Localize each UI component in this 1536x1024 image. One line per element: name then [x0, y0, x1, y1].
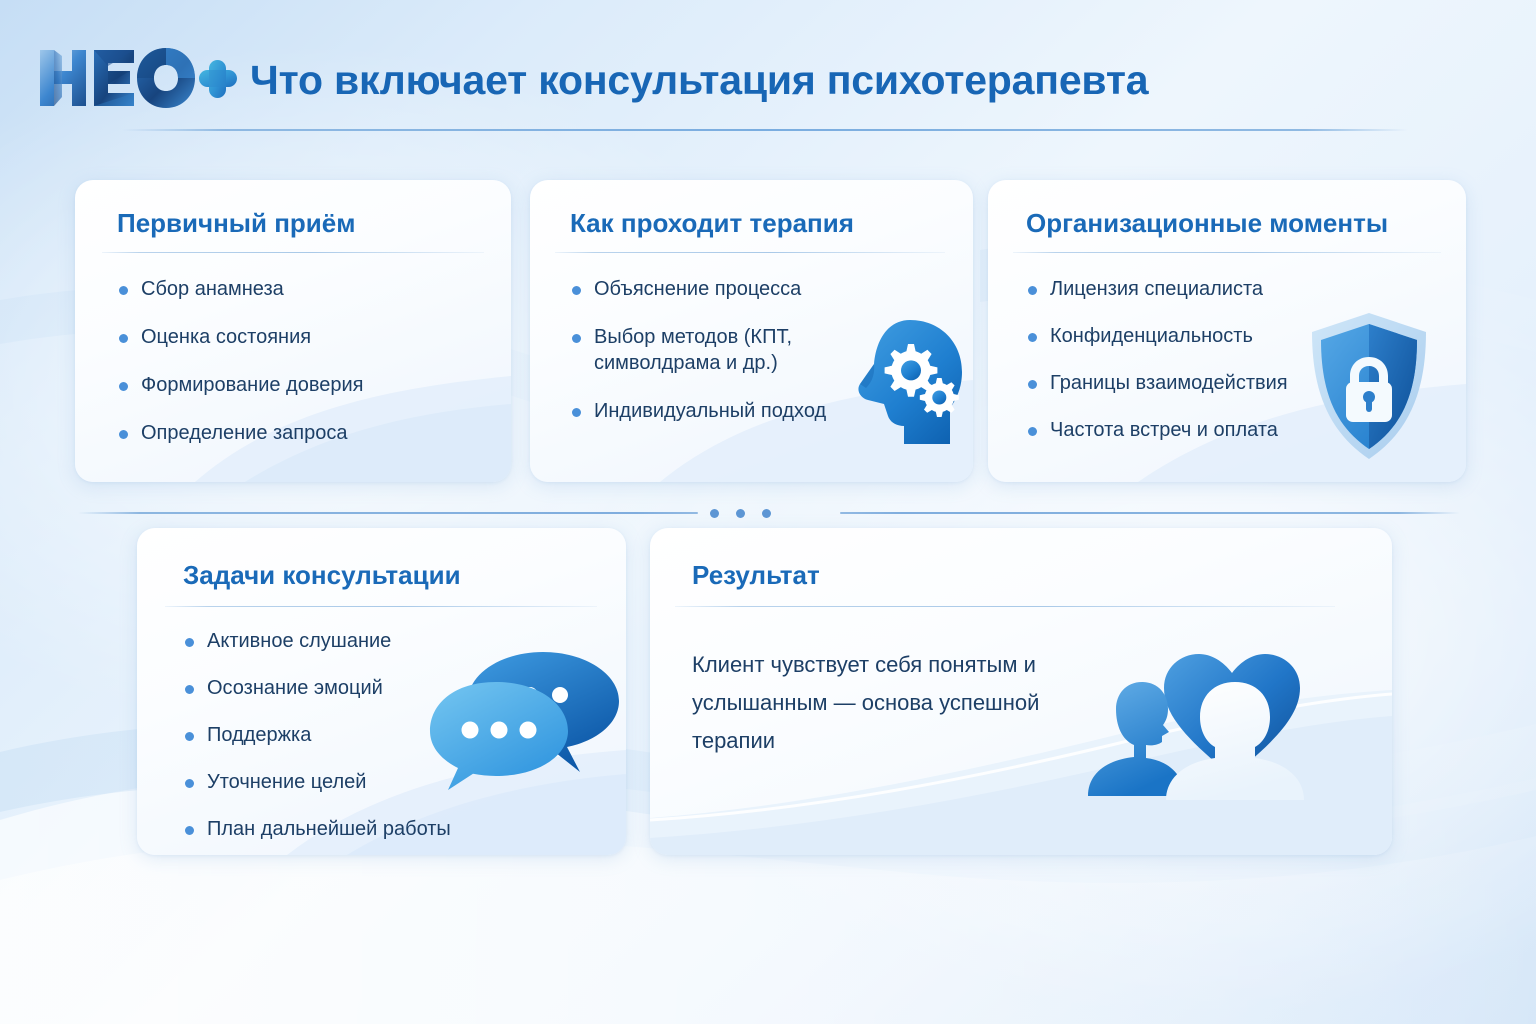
card-title: Первичный приём: [117, 208, 355, 239]
divider-line-left: [78, 512, 698, 514]
card-consultation-tasks[interactable]: Задачи консультации Активное слушание Ос…: [137, 528, 626, 855]
list-item: Уточнение целей: [183, 769, 483, 795]
bullet-list: Лицензия специалиста Конфиденциальность …: [1026, 276, 1346, 443]
list-item: Формирование доверия: [117, 372, 477, 398]
list-item: Выбор методов (КПТ, символдрама и др.): [570, 324, 870, 376]
list-item: Оценка состояния: [117, 324, 477, 350]
result-body-text: Клиент чувствует себя понятым и услышанн…: [692, 646, 1092, 759]
bullet-list: Активное слушание Осознание эмоций Подде…: [183, 628, 483, 842]
divider-dot: [736, 509, 745, 518]
card-title: Результат: [692, 560, 820, 591]
divider-line-right: [840, 512, 1460, 514]
list-item: Определение запроса: [117, 420, 477, 446]
card-title-divider: [675, 606, 1335, 607]
list-item: Сбор анамнеза: [117, 276, 477, 302]
card-how-therapy-goes[interactable]: Как проходит терапия Объяснение процесса…: [530, 180, 973, 482]
section-divider: [78, 507, 1460, 519]
divider-dot: [710, 509, 719, 518]
bullet-list: Объяснение процесса Выбор методов (КПТ, …: [570, 276, 870, 424]
list-item: Поддержка: [183, 722, 483, 748]
list-item: Конфиденциальность: [1026, 323, 1346, 349]
card-organizational[interactable]: Организационные моменты Лицензия специ: [988, 180, 1466, 482]
page-header: Что включает консультация психотерапевта: [0, 0, 1536, 140]
card-title: Задачи консультации: [183, 560, 461, 591]
page-title: Что включает консультация психотерапевта: [250, 57, 1148, 104]
card-title: Организационные моменты: [1026, 208, 1388, 239]
card-title-divider: [1013, 252, 1441, 253]
list-item: Объяснение процесса: [570, 276, 870, 302]
list-item: Осознание эмоций: [183, 675, 483, 701]
bullet-list: Сбор анамнеза Оценка состояния Формирова…: [117, 276, 477, 446]
card-title-divider: [102, 252, 484, 253]
list-item: Границы взаимодействия: [1026, 370, 1346, 396]
divider-dot: [762, 509, 771, 518]
list-item: Частота встреч и оплата: [1026, 417, 1346, 443]
header-divider: [122, 129, 1408, 131]
heart-people-icon: [1072, 616, 1357, 816]
neo-plus-logo: [38, 44, 238, 110]
card-primary-intake[interactable]: Первичный приём: [75, 180, 511, 482]
card-title-divider: [165, 606, 597, 607]
list-item: Индивидуальный подход: [570, 398, 870, 424]
card-title: Как проходит терапия: [570, 208, 854, 239]
card-result[interactable]: Результат Клиент чувствует себя понятым …: [650, 528, 1392, 855]
list-item: Лицензия специалиста: [1026, 276, 1346, 302]
list-item: План дальнейшей работы: [183, 816, 483, 842]
list-item: Активное слушание: [183, 628, 483, 654]
card-title-divider: [555, 252, 945, 253]
